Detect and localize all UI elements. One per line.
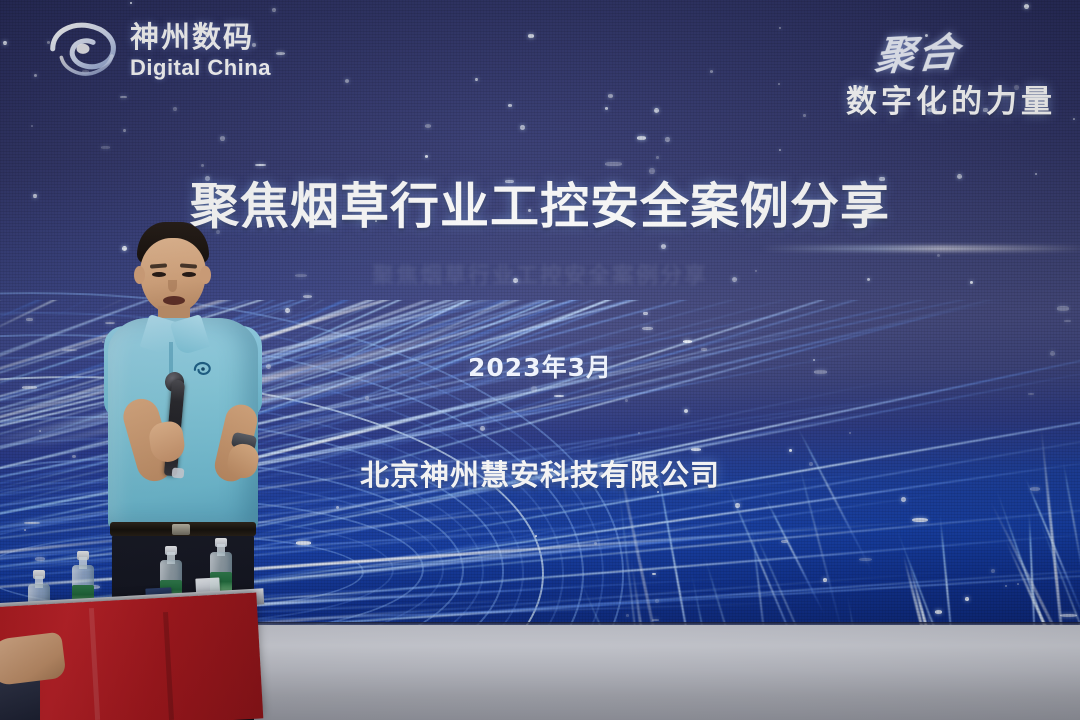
light-particle: [39, 430, 41, 432]
light-particle: [24, 529, 26, 531]
light-particle: [220, 136, 225, 141]
light-particle: [1073, 118, 1075, 120]
light-particle: [912, 518, 928, 522]
light-particle: [475, 78, 478, 81]
light-particle: [520, 125, 525, 130]
light-particle: [425, 155, 428, 158]
light-particle: [31, 125, 33, 127]
light-particle: [957, 174, 962, 179]
light-particle: [594, 542, 597, 545]
slogan-sub-text: 数字化的力量: [846, 76, 1056, 121]
light-particle: [531, 386, 537, 392]
slogan-brush-text: 聚合: [873, 20, 964, 82]
light-particle: [1024, 4, 1029, 9]
light-particle: [661, 244, 666, 249]
light-particle: [778, 83, 780, 85]
speaker-figure: [92, 222, 282, 632]
light-particle: [901, 497, 906, 502]
brand-wordmark: 神州数码 Digital China: [130, 23, 271, 79]
light-particle: [652, 573, 656, 575]
light-particle: [303, 295, 312, 298]
light-particle: [867, 278, 870, 281]
light-particle: [1064, 320, 1071, 322]
light-particle: [779, 149, 781, 151]
speaker-eye-left: [152, 272, 166, 277]
swirl-logo-icon: [46, 20, 120, 82]
speaker-belt-buckle: [172, 524, 190, 535]
brand-logo: 神州数码 Digital China: [46, 20, 271, 82]
light-particle: [201, 164, 204, 167]
speaker-ear-right: [200, 266, 211, 284]
light-particle: [655, 599, 659, 603]
speaker-nose: [168, 280, 177, 292]
light-particle: [365, 396, 369, 400]
light-particle: [654, 108, 659, 113]
light-particle: [965, 597, 969, 601]
light-particle: [625, 399, 628, 402]
light-particle: [665, 137, 670, 142]
light-particle: [823, 578, 827, 582]
light-particle: [276, 52, 285, 55]
brand-name-cn: 神州数码: [130, 23, 271, 52]
light-particle: [535, 535, 537, 537]
light-particle: [608, 94, 613, 98]
light-particle: [480, 426, 485, 431]
light-particle: [173, 107, 177, 111]
light-particle: [345, 79, 349, 83]
light-particle: [605, 162, 622, 166]
light-particle: [1005, 585, 1007, 587]
slogan-block: 聚合 数字化的力量: [846, 22, 1056, 121]
light-particle: [991, 569, 995, 573]
light-particle: [970, 281, 973, 284]
light-particle: [937, 254, 940, 257]
light-particle: [605, 107, 608, 110]
light-particle: [643, 312, 648, 315]
stage-photo: 神州数码 Digital China 聚合 数字化的力量 聚焦烟草行业工控安全案…: [0, 0, 1080, 720]
light-particle: [859, 558, 872, 561]
light-particle: [24, 522, 40, 524]
light-particle: [626, 614, 629, 617]
light-particle: [642, 327, 653, 330]
light-particle: [755, 270, 757, 272]
light-particle: [255, 164, 266, 166]
light-particle: [101, 146, 110, 149]
brand-name-en: Digital China: [130, 57, 271, 79]
light-particle: [1017, 583, 1019, 585]
light-particle: [272, 8, 276, 12]
speaker-eye-right: [182, 272, 196, 277]
light-particle: [637, 136, 646, 140]
light-particle: [26, 318, 33, 321]
light-particle: [684, 409, 688, 413]
light-particle: [735, 503, 740, 508]
light-particle: [508, 104, 512, 107]
speaker-ear-left: [134, 266, 145, 284]
shirt-emblem-icon: [192, 360, 214, 378]
light-particle: [803, 114, 806, 117]
light-particle: [1035, 173, 1037, 175]
light-particle: [649, 168, 655, 174]
light-particle: [296, 541, 311, 545]
light-particle: [554, 395, 564, 397]
light-particle: [732, 277, 737, 282]
light-particle: [779, 27, 781, 29]
microphone-base: [172, 467, 185, 478]
light-particle: [513, 278, 518, 283]
light-particle: [1028, 393, 1034, 395]
light-particle: [123, 129, 126, 132]
light-particle: [120, 96, 127, 98]
light-particle: [285, 308, 290, 313]
light-particle: [35, 557, 45, 561]
light-particle: [295, 274, 307, 277]
light-particle: [781, 540, 788, 543]
light-particle: [34, 74, 37, 77]
light-particle: [22, 386, 37, 389]
light-particle: [691, 448, 701, 451]
light-particle: [652, 619, 659, 621]
light-particle: [656, 156, 659, 159]
light-particle: [683, 340, 692, 343]
light-particle: [1060, 614, 1077, 617]
light-particle: [528, 34, 534, 38]
light-particle: [425, 124, 431, 128]
light-particle: [336, 506, 339, 509]
light-particle: [1057, 306, 1069, 311]
light-particle: [935, 610, 942, 614]
speaker-mouth: [163, 296, 185, 305]
light-particle: [638, 432, 640, 434]
light-particle: [130, 2, 132, 4]
light-particle: [3, 41, 7, 45]
light-particle: [849, 432, 851, 434]
light-particle: [710, 70, 713, 73]
